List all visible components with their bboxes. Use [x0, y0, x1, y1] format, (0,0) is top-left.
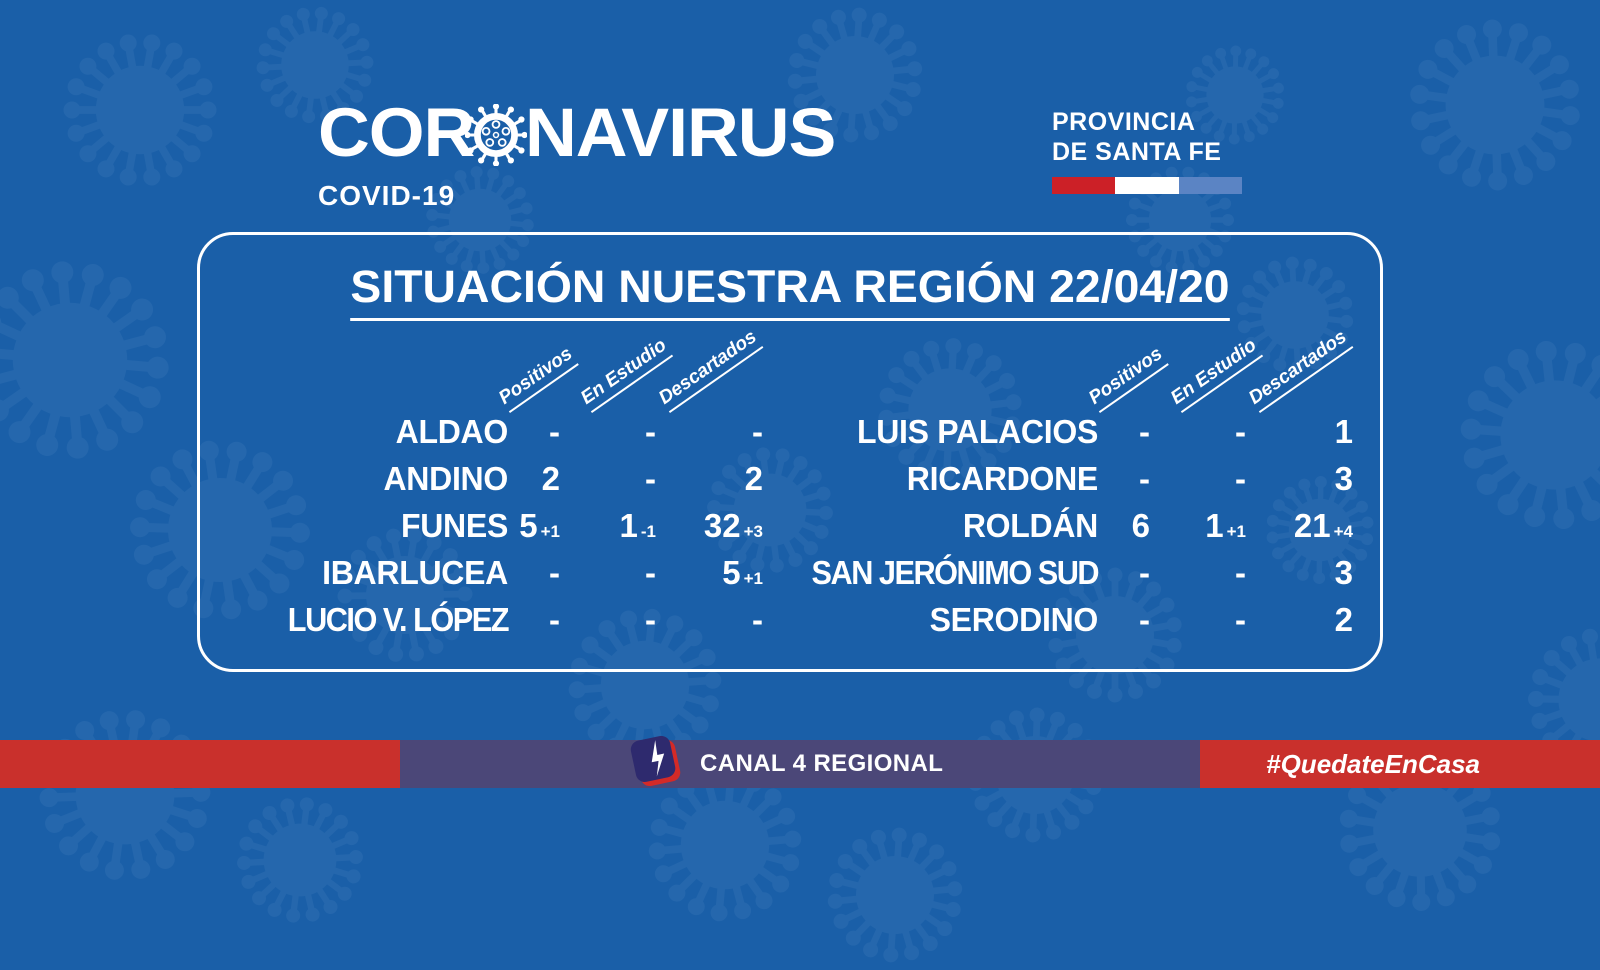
cell-value: -: [645, 601, 656, 638]
cell-value: 32: [704, 507, 741, 544]
table-row: LUIS PALACIOS--1: [790, 413, 1380, 460]
cell-descartados: 3: [1256, 460, 1361, 498]
cell-en-estudio: -: [574, 413, 666, 451]
cell-descartados: 3: [1256, 554, 1361, 592]
cell-descartados: 1: [1256, 413, 1361, 451]
table-row: RICARDONE--3: [790, 460, 1380, 507]
cell-delta: +1: [744, 569, 763, 588]
virus-particle-decoration: [820, 820, 970, 970]
cell-positivos: -: [1098, 554, 1164, 592]
cell-value: 1: [620, 507, 638, 544]
tables-container: PositivosEn EstudioDescartados ALDAO---A…: [200, 321, 1380, 651]
cell-value: 2: [1335, 601, 1353, 638]
hashtag-label: #QuedateEnCasa: [1266, 740, 1480, 788]
column-header-en-estudio: En Estudio: [577, 335, 673, 413]
column-header-descartados: Descartados: [1245, 326, 1353, 413]
table-row: ROLDÁN61+121+4: [790, 507, 1380, 554]
cell-positivos: -: [1098, 413, 1164, 451]
virus-particle-decoration: [30, 700, 220, 890]
flag-bar-white: [1115, 177, 1178, 194]
locality-name: ALDAO: [209, 413, 508, 451]
cell-value: -: [549, 554, 560, 591]
cell-value: 1: [1335, 413, 1353, 450]
logo-text-after: NAVIRUS: [525, 98, 835, 167]
locality-name: FUNES: [209, 507, 508, 545]
cell-value: 1: [1205, 507, 1223, 544]
cell-delta: +4: [1334, 522, 1353, 541]
cell-value: -: [1139, 554, 1150, 591]
footer-content: CANAL 4 REGIONAL #QuedateEnCasa: [0, 740, 1600, 788]
table-rows-right: LUIS PALACIOS--1RICARDONE--3ROLDÁN61+121…: [790, 413, 1380, 648]
locality-name: ANDINO: [209, 460, 508, 498]
table-row: SERODINO--2: [790, 601, 1380, 648]
cell-positivos: 6: [1098, 507, 1164, 545]
cell-en-estudio: 1-1: [574, 507, 666, 545]
locality-name: LUIS PALACIOS: [799, 413, 1098, 451]
cell-value: 2: [542, 460, 560, 497]
cell-value: -: [1235, 460, 1246, 497]
cell-en-estudio: -: [1164, 460, 1256, 498]
cell-value: -: [1235, 601, 1246, 638]
stats-panel: SITUACIÓN NUESTRA REGIÓN 22/04/20 Positi…: [197, 232, 1383, 672]
locality-name: ROLDÁN: [799, 507, 1098, 545]
cell-positivos: -: [1098, 460, 1164, 498]
cell-descartados: 2: [666, 460, 771, 498]
logo-text-before: COR: [318, 98, 474, 167]
cell-en-estudio: -: [1164, 601, 1256, 639]
cell-value: -: [645, 554, 656, 591]
locality-name: LUCIO V. LÓPEZ: [222, 601, 508, 639]
cell-descartados: 5+1: [666, 554, 771, 592]
santa-fe-province-logo: PROVINCIA DE SANTA FE: [1052, 108, 1244, 194]
cell-en-estudio: -: [1164, 554, 1256, 592]
cell-value: 6: [1132, 507, 1150, 544]
cell-positivos: 5+1: [508, 507, 574, 545]
cell-delta: +1: [541, 522, 560, 541]
province-line-1: PROVINCIA: [1052, 108, 1244, 138]
cell-descartados: -: [666, 413, 771, 451]
locality-name: SERODINO: [799, 601, 1098, 639]
flag-bar-blue: [1179, 177, 1242, 194]
province-flag-bars: [1052, 177, 1242, 194]
column-header-en-estudio: En Estudio: [1167, 335, 1263, 413]
cell-value: -: [549, 413, 560, 450]
cell-value: 3: [1335, 460, 1353, 497]
column-headers-right: PositivosEn EstudioDescartados: [790, 321, 1380, 413]
cell-value: -: [549, 601, 560, 638]
covid19-label: COVID-19: [318, 180, 455, 212]
column-headers-left: PositivosEn EstudioDescartados: [200, 321, 790, 413]
cell-descartados: 21+4: [1256, 507, 1361, 545]
cell-value: 5: [722, 554, 740, 591]
table-row: SAN JERÓNIMO SUD--3: [790, 554, 1380, 601]
cell-positivos: -: [1098, 601, 1164, 639]
cell-value: 2: [745, 460, 763, 497]
flag-bar-red: [1052, 177, 1115, 194]
table-row: ANDINO2-2: [200, 460, 790, 507]
cell-positivos: -: [508, 601, 574, 639]
locality-name: IBARLUCEA: [209, 554, 508, 592]
header: COR: [0, 0, 1600, 225]
cell-delta: -1: [641, 522, 656, 541]
cell-en-estudio: -: [574, 554, 666, 592]
cell-positivos: -: [508, 413, 574, 451]
cell-value: -: [1139, 460, 1150, 497]
cell-en-estudio: -: [574, 601, 666, 639]
page-title: SITUACIÓN NUESTRA REGIÓN 22/04/20: [182, 261, 1397, 313]
table-rows-left: ALDAO---ANDINO2-2FUNES5+11-132+3IBARLUCE…: [200, 413, 790, 648]
cell-en-estudio: -: [1164, 413, 1256, 451]
cell-value: -: [1139, 413, 1150, 450]
column-header-positivos: Positivos: [495, 343, 579, 413]
locality-name: RICARDONE: [799, 460, 1098, 498]
table-row: FUNES5+11-132+3: [200, 507, 790, 554]
cell-descartados: 32+3: [666, 507, 771, 545]
virus-particle-decoration: [230, 790, 370, 930]
column-header-descartados: Descartados: [655, 326, 763, 413]
cell-value: -: [1235, 413, 1246, 450]
cell-descartados: 2: [1256, 601, 1361, 639]
locality-name: SAN JERÓNIMO SUD: [812, 554, 1098, 592]
cell-value: 21: [1294, 507, 1331, 544]
cell-delta: +3: [744, 522, 763, 541]
coronavirus-logo: COR: [318, 98, 824, 167]
channel-label: CANAL 4 REGIONAL: [700, 740, 943, 788]
cell-value: -: [1235, 554, 1246, 591]
table-row: IBARLUCEA--5+1: [200, 554, 790, 601]
cell-value: -: [645, 413, 656, 450]
cell-en-estudio: 1+1: [1164, 507, 1256, 545]
canal4-logo-icon: [630, 728, 686, 798]
cell-positivos: 2: [508, 460, 574, 498]
cell-value: -: [752, 601, 763, 638]
virus-particle-icon: [465, 104, 527, 166]
cell-en-estudio: -: [574, 460, 666, 498]
table-right: PositivosEn EstudioDescartados LUIS PALA…: [790, 321, 1380, 651]
column-header-positivos: Positivos: [1085, 343, 1169, 413]
cell-value: -: [752, 413, 763, 450]
virus-particle-decoration: [1450, 330, 1600, 540]
table-row: ALDAO---: [200, 413, 790, 460]
province-line-2: DE SANTA FE: [1052, 138, 1244, 168]
cell-value: 3: [1335, 554, 1353, 591]
cell-value: 5: [519, 507, 537, 544]
cell-delta: +1: [1227, 522, 1246, 541]
cell-value: -: [1139, 601, 1150, 638]
footer-bar: CANAL 4 REGIONAL #QuedateEnCasa: [0, 740, 1600, 788]
cell-positivos: -: [508, 554, 574, 592]
cell-value: -: [645, 460, 656, 497]
table-row: LUCIO V. LÓPEZ---: [200, 601, 790, 648]
table-left: PositivosEn EstudioDescartados ALDAO---A…: [200, 321, 790, 651]
page-title-text: SITUACIÓN NUESTRA REGIÓN 22/04/20: [350, 261, 1229, 321]
cell-descartados: -: [666, 601, 771, 639]
